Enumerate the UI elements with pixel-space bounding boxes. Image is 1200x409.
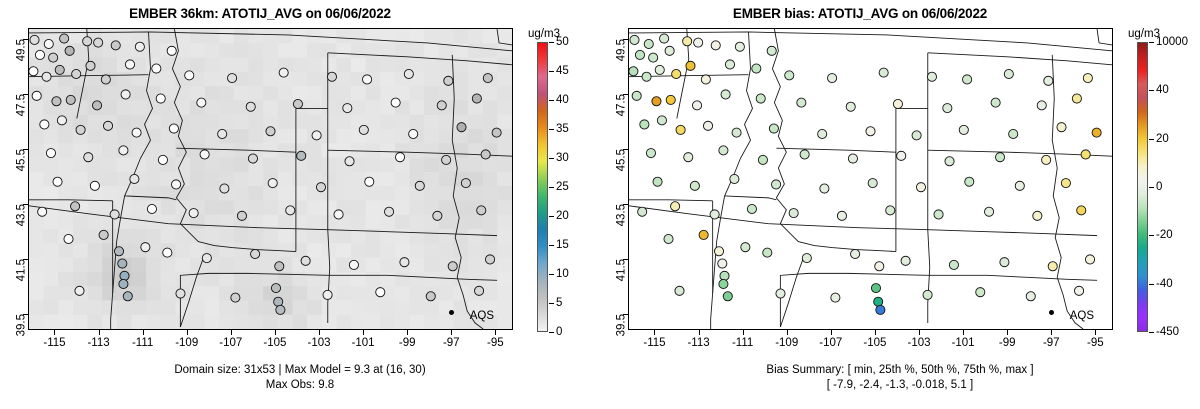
station-marker[interactable] bbox=[415, 181, 424, 190]
raster-cell bbox=[146, 286, 161, 301]
station-marker[interactable] bbox=[125, 60, 134, 69]
raster-cell bbox=[453, 215, 468, 230]
station-marker[interactable] bbox=[251, 249, 260, 258]
station-marker[interactable] bbox=[44, 39, 53, 48]
raster-cell bbox=[278, 215, 293, 230]
station-marker[interactable] bbox=[897, 151, 906, 160]
station-marker[interactable] bbox=[875, 262, 884, 271]
raster-cell bbox=[292, 186, 307, 201]
station-marker[interactable] bbox=[711, 41, 720, 50]
station-marker[interactable] bbox=[141, 243, 150, 252]
station-marker[interactable] bbox=[384, 207, 393, 216]
station-marker[interactable] bbox=[130, 174, 139, 183]
station-marker[interactable] bbox=[976, 288, 985, 297]
station-marker[interactable] bbox=[719, 146, 728, 155]
station-marker[interactable] bbox=[400, 258, 409, 267]
station-marker[interactable] bbox=[1026, 292, 1035, 301]
station-marker[interactable] bbox=[120, 271, 129, 280]
station-marker[interactable] bbox=[492, 128, 501, 137]
station-marker[interactable] bbox=[879, 68, 888, 77]
raster-cell bbox=[44, 158, 59, 173]
raster-cell bbox=[234, 115, 249, 130]
station-marker[interactable] bbox=[75, 286, 84, 295]
station-marker[interactable] bbox=[776, 289, 785, 298]
station-marker[interactable] bbox=[721, 90, 730, 99]
raster-cell bbox=[395, 172, 410, 187]
station-marker[interactable] bbox=[831, 293, 840, 302]
raster-cell bbox=[205, 100, 220, 115]
station-marker[interactable] bbox=[444, 76, 453, 85]
raster-cell bbox=[219, 215, 234, 230]
station-marker[interactable] bbox=[101, 75, 110, 84]
station-marker[interactable] bbox=[118, 259, 127, 268]
x-tick-label: -113 bbox=[687, 337, 709, 349]
station-marker[interactable] bbox=[426, 292, 435, 301]
raster-cell bbox=[175, 100, 190, 115]
station-marker[interactable] bbox=[868, 179, 877, 188]
station-marker[interactable] bbox=[718, 259, 727, 268]
station-marker[interactable] bbox=[376, 288, 385, 297]
station-marker[interactable] bbox=[965, 177, 974, 186]
station-marker[interactable] bbox=[52, 97, 61, 106]
station-marker[interactable] bbox=[448, 262, 457, 271]
station-marker[interactable] bbox=[176, 289, 185, 298]
station-marker[interactable] bbox=[334, 210, 343, 219]
colorbar-tick bbox=[549, 129, 554, 130]
station-marker[interactable] bbox=[64, 234, 73, 243]
raster-cell bbox=[278, 229, 293, 244]
raster-cell bbox=[146, 186, 161, 201]
raster-cell bbox=[410, 315, 425, 329]
station-marker[interactable] bbox=[714, 247, 723, 256]
x-tick bbox=[1007, 330, 1008, 335]
raster-cell bbox=[424, 86, 439, 101]
station-marker[interactable] bbox=[32, 91, 41, 100]
station-marker[interactable] bbox=[119, 146, 128, 155]
station-marker[interactable] bbox=[649, 53, 658, 62]
station-marker[interactable] bbox=[866, 127, 875, 136]
station-marker[interactable] bbox=[60, 34, 69, 43]
station-marker[interactable] bbox=[391, 98, 400, 107]
station-marker[interactable] bbox=[483, 74, 492, 83]
station-marker[interactable] bbox=[29, 67, 38, 76]
station-marker[interactable] bbox=[851, 249, 860, 258]
station-marker[interactable] bbox=[640, 120, 649, 129]
station-marker[interactable] bbox=[638, 207, 647, 216]
station-marker[interactable] bbox=[758, 155, 767, 164]
station-marker[interactable] bbox=[474, 286, 483, 295]
station-marker[interactable] bbox=[963, 75, 972, 84]
station-marker[interactable] bbox=[363, 75, 372, 84]
station-marker[interactable] bbox=[732, 128, 741, 137]
station-marker[interactable] bbox=[55, 65, 64, 74]
raster-cell bbox=[292, 129, 307, 144]
raster-cell bbox=[102, 272, 117, 287]
station-marker[interactable] bbox=[111, 41, 120, 50]
station-marker[interactable] bbox=[86, 61, 95, 70]
station-marker[interactable] bbox=[218, 129, 227, 138]
colorbar-tick bbox=[549, 71, 554, 72]
station-marker[interactable] bbox=[871, 284, 880, 293]
station-marker[interactable] bbox=[84, 153, 93, 162]
station-marker[interactable] bbox=[189, 209, 198, 218]
station-marker[interactable] bbox=[268, 179, 277, 188]
station-marker[interactable] bbox=[1037, 101, 1046, 110]
map-plot-model[interactable]: AQS bbox=[28, 28, 513, 330]
station-marker[interactable] bbox=[820, 184, 829, 193]
station-marker[interactable] bbox=[703, 121, 712, 130]
raster-cell bbox=[322, 29, 337, 44]
raster-cell bbox=[44, 186, 59, 201]
station-marker[interactable] bbox=[767, 46, 776, 55]
station-marker[interactable] bbox=[286, 206, 295, 215]
station-marker[interactable] bbox=[692, 101, 701, 110]
station-marker[interactable] bbox=[65, 46, 74, 55]
raster-cell bbox=[88, 200, 103, 215]
station-marker[interactable] bbox=[220, 184, 229, 193]
station-marker[interactable] bbox=[172, 180, 181, 189]
map-plot-bias[interactable]: AQS bbox=[628, 28, 1113, 330]
raster-cell bbox=[117, 300, 132, 315]
raster-cell bbox=[146, 258, 161, 273]
raster-cell bbox=[219, 243, 234, 258]
station-marker[interactable] bbox=[457, 123, 466, 132]
station-marker[interactable] bbox=[701, 75, 710, 84]
station-marker[interactable] bbox=[92, 101, 101, 110]
x-tick bbox=[654, 330, 655, 335]
station-marker[interactable] bbox=[365, 177, 374, 186]
station-marker[interactable] bbox=[237, 211, 246, 220]
station-marker[interactable] bbox=[635, 50, 644, 59]
station-marker[interactable] bbox=[710, 210, 719, 219]
station-marker[interactable] bbox=[1057, 123, 1066, 132]
station-marker[interactable] bbox=[53, 177, 62, 186]
station-marker[interactable] bbox=[723, 292, 732, 301]
raster-cell bbox=[439, 115, 454, 130]
station-marker[interactable] bbox=[1000, 258, 1009, 267]
station-marker[interactable] bbox=[653, 177, 662, 186]
station-marker[interactable] bbox=[769, 124, 778, 133]
raster-cell bbox=[322, 158, 337, 173]
station-marker[interactable] bbox=[644, 39, 653, 48]
station-marker[interactable] bbox=[276, 305, 285, 314]
station-marker[interactable] bbox=[772, 180, 781, 189]
raster-cell bbox=[131, 258, 146, 273]
station-marker[interactable] bbox=[433, 211, 442, 220]
station-marker[interactable] bbox=[893, 99, 902, 108]
station-marker[interactable] bbox=[246, 102, 255, 111]
raster-cell bbox=[366, 158, 381, 173]
station-marker[interactable] bbox=[271, 284, 280, 293]
station-marker[interactable] bbox=[874, 297, 883, 306]
station-marker[interactable] bbox=[1074, 286, 1083, 295]
station-marker[interactable] bbox=[279, 68, 288, 77]
station-marker[interactable] bbox=[110, 210, 119, 219]
station-marker[interactable] bbox=[741, 243, 750, 252]
station-marker[interactable] bbox=[800, 150, 809, 159]
colorbar-tick-label: 40 bbox=[556, 94, 569, 106]
station-marker[interactable] bbox=[293, 99, 302, 108]
caption-model-line2: Max Obs: 9.8 bbox=[0, 379, 600, 391]
station-marker[interactable] bbox=[147, 204, 156, 213]
raster-cell bbox=[380, 158, 395, 173]
station-marker[interactable] bbox=[1033, 211, 1042, 220]
raster-cell bbox=[439, 272, 454, 287]
raster-cell bbox=[278, 158, 293, 173]
station-marker[interactable] bbox=[40, 120, 49, 129]
station-marker[interactable] bbox=[231, 293, 240, 302]
station-marker[interactable] bbox=[185, 71, 194, 80]
station-marker[interactable] bbox=[629, 67, 638, 76]
x-tick bbox=[99, 330, 100, 335]
station-marker[interactable] bbox=[30, 35, 39, 44]
station-marker[interactable] bbox=[461, 179, 470, 188]
raster-cell bbox=[483, 158, 498, 173]
station-marker[interactable] bbox=[197, 98, 206, 107]
station-marker[interactable] bbox=[46, 149, 55, 158]
station-marker[interactable] bbox=[652, 97, 661, 106]
station-marker[interactable] bbox=[481, 150, 490, 159]
raster-cell bbox=[29, 243, 44, 258]
raster-cell bbox=[366, 200, 381, 215]
station-marker[interactable] bbox=[316, 183, 325, 192]
station-marker[interactable] bbox=[945, 157, 954, 166]
station-marker[interactable] bbox=[477, 206, 486, 215]
station-marker[interactable] bbox=[756, 94, 765, 103]
raster-cell bbox=[29, 286, 44, 301]
station-marker[interactable] bbox=[345, 157, 354, 166]
station-marker[interactable] bbox=[349, 260, 358, 269]
raster-cell bbox=[497, 215, 512, 230]
station-marker[interactable] bbox=[1061, 179, 1070, 188]
station-marker[interactable] bbox=[1072, 94, 1081, 103]
raster-cell bbox=[380, 272, 395, 287]
station-marker[interactable] bbox=[1004, 69, 1013, 78]
station-marker[interactable] bbox=[163, 248, 172, 257]
raster-cell bbox=[336, 29, 351, 44]
station-marker[interactable] bbox=[1085, 255, 1094, 264]
x-tick-label: -101 bbox=[352, 337, 375, 349]
station-marker[interactable] bbox=[719, 279, 728, 288]
station-marker[interactable] bbox=[1077, 206, 1086, 215]
station-marker[interactable] bbox=[684, 153, 693, 162]
station-marker[interactable] bbox=[35, 50, 44, 59]
station-marker[interactable] bbox=[959, 125, 968, 134]
station-marker[interactable] bbox=[1044, 76, 1053, 85]
station-marker[interactable] bbox=[1009, 129, 1018, 138]
station-marker[interactable] bbox=[686, 61, 695, 70]
station-marker[interactable] bbox=[646, 149, 655, 158]
raster-cell bbox=[336, 86, 351, 101]
station-marker[interactable] bbox=[785, 71, 794, 80]
station-marker[interactable] bbox=[991, 98, 1000, 107]
station-marker[interactable] bbox=[99, 230, 108, 239]
raster-cell bbox=[278, 172, 293, 187]
station-marker[interactable] bbox=[248, 154, 257, 163]
station-marker[interactable] bbox=[848, 154, 857, 163]
raster-cell bbox=[322, 115, 337, 130]
station-marker[interactable] bbox=[42, 72, 51, 81]
station-marker[interactable] bbox=[797, 98, 806, 107]
station-marker[interactable] bbox=[114, 247, 123, 256]
station-marker[interactable] bbox=[747, 204, 756, 213]
station-marker[interactable] bbox=[664, 234, 673, 243]
station-marker[interactable] bbox=[1015, 181, 1024, 190]
raster-cell bbox=[410, 286, 425, 301]
raster-cell bbox=[424, 158, 439, 173]
station-marker[interactable] bbox=[666, 95, 675, 104]
station-marker[interactable] bbox=[642, 72, 651, 81]
station-marker[interactable] bbox=[132, 128, 141, 137]
station-marker[interactable] bbox=[763, 248, 772, 257]
raster-cell bbox=[468, 215, 483, 230]
station-marker[interactable] bbox=[94, 38, 103, 47]
raster-cell bbox=[175, 243, 190, 258]
station-marker[interactable] bbox=[789, 209, 798, 218]
station-marker[interactable] bbox=[827, 74, 836, 83]
station-marker[interactable] bbox=[167, 46, 176, 55]
station-marker[interactable] bbox=[123, 292, 132, 301]
station-marker[interactable] bbox=[66, 95, 75, 104]
station-marker[interactable] bbox=[660, 34, 669, 43]
station-marker[interactable] bbox=[665, 46, 674, 55]
raster-cell bbox=[292, 300, 307, 315]
station-marker[interactable] bbox=[38, 207, 47, 216]
raster-cell bbox=[336, 58, 351, 73]
station-marker[interactable] bbox=[49, 53, 58, 62]
station-marker[interactable] bbox=[472, 94, 481, 103]
station-marker[interactable] bbox=[72, 69, 81, 78]
station-marker[interactable] bbox=[275, 262, 284, 271]
station-marker[interactable] bbox=[156, 94, 165, 103]
station-markers-bias[interactable] bbox=[629, 34, 1101, 315]
station-marker[interactable] bbox=[200, 150, 209, 159]
station-marker[interactable] bbox=[725, 60, 734, 69]
station-marker[interactable] bbox=[655, 65, 664, 74]
station-marker[interactable] bbox=[886, 206, 895, 215]
station-marker[interactable] bbox=[90, 181, 99, 190]
station-marker[interactable] bbox=[343, 104, 352, 113]
station-marker[interactable] bbox=[227, 74, 236, 83]
station-marker[interactable] bbox=[901, 256, 910, 265]
station-marker[interactable] bbox=[657, 116, 666, 125]
raster-cell bbox=[58, 143, 73, 158]
colorbar-model[interactable]: ug/m3 05101520253035404550 bbox=[528, 28, 600, 330]
station-marker[interactable] bbox=[103, 121, 112, 130]
station-marker[interactable] bbox=[83, 37, 92, 46]
station-marker[interactable] bbox=[632, 91, 641, 100]
station-marker[interactable] bbox=[359, 125, 368, 134]
raster-cell bbox=[263, 58, 278, 73]
station-marker[interactable] bbox=[995, 153, 1004, 162]
station-marker[interactable] bbox=[1042, 155, 1051, 164]
station-marker[interactable] bbox=[912, 131, 921, 140]
raster-cell bbox=[263, 43, 278, 58]
station-marker[interactable] bbox=[202, 254, 211, 263]
station-marker[interactable] bbox=[301, 256, 310, 265]
raster-cell bbox=[161, 258, 176, 273]
raster-cell bbox=[497, 115, 512, 130]
station-marker[interactable] bbox=[442, 155, 451, 164]
station-marker[interactable] bbox=[752, 64, 761, 73]
station-marker[interactable] bbox=[152, 64, 161, 73]
station-marker[interactable] bbox=[409, 129, 418, 138]
station-marker[interactable] bbox=[699, 230, 708, 239]
station-marker[interactable] bbox=[984, 207, 993, 216]
station-marker[interactable] bbox=[730, 174, 739, 183]
station-marker[interactable] bbox=[169, 124, 178, 133]
raster-cell bbox=[307, 115, 322, 130]
station-marker[interactable] bbox=[720, 271, 729, 280]
station-marker[interactable] bbox=[323, 290, 332, 299]
station-marker[interactable] bbox=[274, 297, 283, 306]
station-marker[interactable] bbox=[672, 69, 681, 78]
raster-cell bbox=[366, 100, 381, 115]
station-marker[interactable] bbox=[404, 69, 413, 78]
station-marker[interactable] bbox=[916, 183, 925, 192]
colorbar-tick-label: 45 bbox=[556, 65, 569, 77]
station-marker[interactable] bbox=[818, 129, 827, 138]
station-marker[interactable] bbox=[923, 290, 932, 299]
colorbar-bias[interactable]: ug/m3 -450-40-200204010000 bbox=[1128, 28, 1200, 330]
raster-cell bbox=[292, 115, 307, 130]
station-marker[interactable] bbox=[943, 104, 952, 113]
station-marker[interactable] bbox=[71, 202, 80, 211]
station-marker[interactable] bbox=[1092, 128, 1101, 137]
station-marker[interactable] bbox=[119, 279, 128, 288]
station-marker[interactable] bbox=[57, 116, 66, 125]
raster-cell bbox=[410, 100, 425, 115]
station-marker[interactable] bbox=[1083, 74, 1092, 83]
raster-cell bbox=[292, 72, 307, 87]
y-tick-label: 41.5 bbox=[615, 259, 627, 281]
station-marker[interactable] bbox=[694, 38, 703, 47]
raster-cell bbox=[58, 129, 73, 144]
station-marker[interactable] bbox=[76, 125, 85, 134]
station-marker[interactable] bbox=[485, 255, 494, 264]
station-marker[interactable] bbox=[735, 42, 744, 51]
station-marker[interactable] bbox=[802, 254, 811, 263]
station-marker[interactable] bbox=[327, 72, 336, 81]
station-marker[interactable] bbox=[690, 181, 699, 190]
station-marker[interactable] bbox=[837, 211, 846, 220]
station-marker[interactable] bbox=[312, 131, 321, 140]
station-marker[interactable] bbox=[1048, 262, 1057, 271]
station-marker[interactable] bbox=[158, 155, 167, 164]
station-marker[interactable] bbox=[675, 286, 684, 295]
station-marker[interactable] bbox=[949, 260, 958, 269]
station-marker[interactable] bbox=[846, 102, 855, 111]
station-marker[interactable] bbox=[927, 72, 936, 81]
station-marker[interactable] bbox=[297, 151, 306, 160]
station-marker[interactable] bbox=[630, 35, 639, 44]
station-marker[interactable] bbox=[671, 202, 680, 211]
raster-cell bbox=[424, 272, 439, 287]
station-marker[interactable] bbox=[676, 125, 685, 134]
station-marker[interactable] bbox=[437, 101, 446, 110]
station-marker[interactable] bbox=[683, 37, 692, 46]
raster-cell bbox=[234, 58, 249, 73]
station-marker[interactable] bbox=[1081, 150, 1090, 159]
station-marker[interactable] bbox=[135, 42, 144, 51]
station-marker[interactable] bbox=[934, 210, 943, 219]
station-marker[interactable] bbox=[395, 153, 404, 162]
station-marker[interactable] bbox=[266, 127, 275, 136]
raster-cell bbox=[483, 172, 498, 187]
station-marker[interactable] bbox=[876, 305, 885, 314]
station-marker[interactable] bbox=[121, 90, 130, 99]
raster-cell bbox=[322, 86, 337, 101]
